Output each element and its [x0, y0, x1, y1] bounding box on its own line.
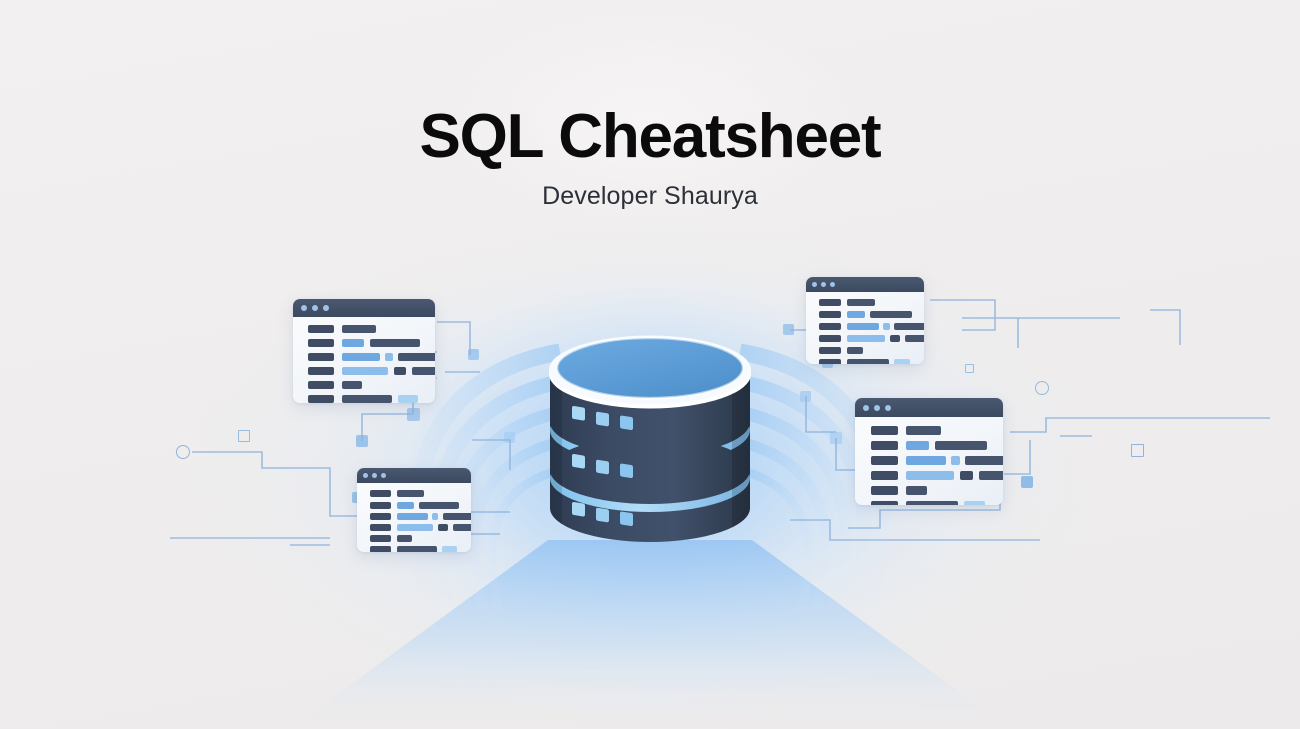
code-window-right-code-block [906, 441, 929, 450]
code-window-top-right-code-block [819, 311, 841, 318]
code-window-top-right-code-block [847, 311, 865, 318]
page-title: SQL Cheatsheet [0, 104, 1300, 170]
code-window-top-right-window-dot-icon [821, 282, 826, 287]
code-window-top-left-code-block [412, 367, 435, 375]
code-window-top-right-code-block [819, 323, 841, 330]
code-window-right-code-block [906, 501, 958, 505]
code-window-bottom-left-code-block [370, 546, 391, 552]
code-window-top-right-code-block [890, 335, 900, 342]
code-window-top-right-code-block [883, 323, 890, 330]
code-window-right-code-block [906, 471, 954, 480]
code-window-right-code-block [906, 426, 941, 435]
code-window-top-left-code-block [394, 367, 406, 375]
code-window-right-code-block [951, 456, 960, 465]
code-window-top-right-code-block [894, 359, 910, 364]
code-window-top-left-window-dot-icon [323, 305, 329, 311]
code-window-right-code-block [965, 456, 1003, 465]
code-window-right-window-dot-icon [874, 405, 880, 411]
code-window-top-left-code-block [370, 339, 420, 347]
code-window-right-code-block [871, 486, 898, 495]
code-window-right-code-block [871, 501, 898, 505]
code-window-right-code-block [964, 501, 985, 505]
code-window-bottom-left-code-block [432, 513, 438, 520]
code-window-top-left-code-block [385, 353, 393, 361]
code-window-top-left-titlebar [293, 299, 435, 317]
code-window-right-code-block [979, 471, 1003, 480]
code-window-top-right-code-block [847, 359, 889, 364]
illustration-canvas: SQL Cheatsheet Developer Shaurya [0, 0, 1300, 729]
code-window-top-left-code-block [398, 395, 418, 403]
code-window-top-left-code-block [342, 367, 388, 375]
code-window-top-left-window-dot-icon [301, 305, 307, 311]
code-window-top-left-code-block [308, 395, 334, 403]
code-window-bottom-left-code-block [370, 524, 391, 531]
code-window-top-left-code-block [342, 395, 392, 403]
code-window-top-left-code-block [398, 353, 435, 361]
code-window-bottom-left-code-area [357, 483, 471, 552]
code-window-right-code-block [906, 486, 927, 495]
code-window-right-code-block [871, 441, 898, 450]
code-window-top-left-code-block [308, 325, 334, 333]
code-window-bottom-left-code-block [438, 524, 448, 531]
code-window-bottom-left-code-block [370, 535, 391, 542]
code-window-top-left-code-block [308, 339, 334, 347]
code-window-bottom-left-titlebar [357, 468, 471, 483]
code-window-bottom-left-code-block [419, 502, 459, 509]
code-window-top-left-code-block [308, 367, 334, 375]
code-window-bottom-left-window-dot-icon [372, 473, 377, 478]
code-window-top-right-code-block [870, 311, 912, 318]
code-window-bottom-left-code-block [397, 502, 414, 509]
code-window-bottom-left-window-dot-icon [381, 473, 386, 478]
code-window-bottom-left-code-block [397, 490, 424, 497]
code-window-bottom-left-code-block [397, 546, 437, 552]
code-window-bottom-left-code-block [443, 513, 471, 520]
code-window-right-code-block [871, 456, 898, 465]
code-window-top-left-code-block [342, 325, 376, 333]
database-cylinder [536, 326, 764, 576]
code-window-top-right-code-block [894, 323, 924, 330]
code-window-right-code-area [855, 417, 1003, 505]
code-window-top-right-code-block [847, 347, 863, 354]
code-window-top-left-code-block [308, 381, 334, 389]
code-window-bottom-left [357, 468, 471, 552]
code-window-top-left-code-block [342, 381, 362, 389]
code-window-top-right-code-block [819, 299, 841, 306]
code-window-top-right-window-dot-icon [830, 282, 835, 287]
code-window-bottom-left-code-block [397, 535, 412, 542]
code-window-top-right [806, 277, 924, 364]
code-window-bottom-left-window-dot-icon [363, 473, 368, 478]
code-window-right-code-block [871, 426, 898, 435]
code-window-right-code-block [960, 471, 973, 480]
title-block: SQL Cheatsheet Developer Shaurya [0, 104, 1300, 211]
code-window-top-right-code-block [819, 359, 841, 364]
code-window-bottom-left-code-block [442, 546, 457, 552]
code-window-top-left-code-area [293, 317, 435, 403]
code-window-top-left-code-block [308, 353, 334, 361]
code-window-right-code-block [935, 441, 987, 450]
code-window-right-window-dot-icon [885, 405, 891, 411]
code-window-top-right-code-block [847, 335, 885, 342]
code-window-bottom-left-code-block [370, 490, 391, 497]
code-window-top-left-code-block [342, 339, 364, 347]
code-window-top-right-window-dot-icon [812, 282, 817, 287]
code-window-top-left-window-dot-icon [312, 305, 318, 311]
code-window-right-code-block [871, 471, 898, 480]
code-window-bottom-left-code-block [453, 524, 471, 531]
code-window-top-right-code-block [847, 323, 879, 330]
code-window-bottom-left-code-block [370, 513, 391, 520]
code-window-top-right-code-block [847, 299, 875, 306]
code-window-top-left [293, 299, 435, 403]
code-window-top-right-code-block [819, 335, 841, 342]
code-window-top-right-code-block [819, 347, 841, 354]
page-subtitle: Developer Shaurya [0, 182, 1300, 211]
code-window-bottom-left-code-block [397, 524, 433, 531]
code-window-right-titlebar [855, 398, 1003, 417]
code-window-top-left-code-block [342, 353, 380, 361]
code-window-top-right-code-area [806, 292, 924, 364]
code-window-right [855, 398, 1003, 505]
code-window-top-right-code-block [905, 335, 924, 342]
code-window-bottom-left-code-block [370, 502, 391, 509]
code-window-right-code-block [906, 456, 946, 465]
code-window-right-window-dot-icon [863, 405, 869, 411]
code-window-bottom-left-code-block [397, 513, 428, 520]
code-window-top-right-titlebar [806, 277, 924, 292]
